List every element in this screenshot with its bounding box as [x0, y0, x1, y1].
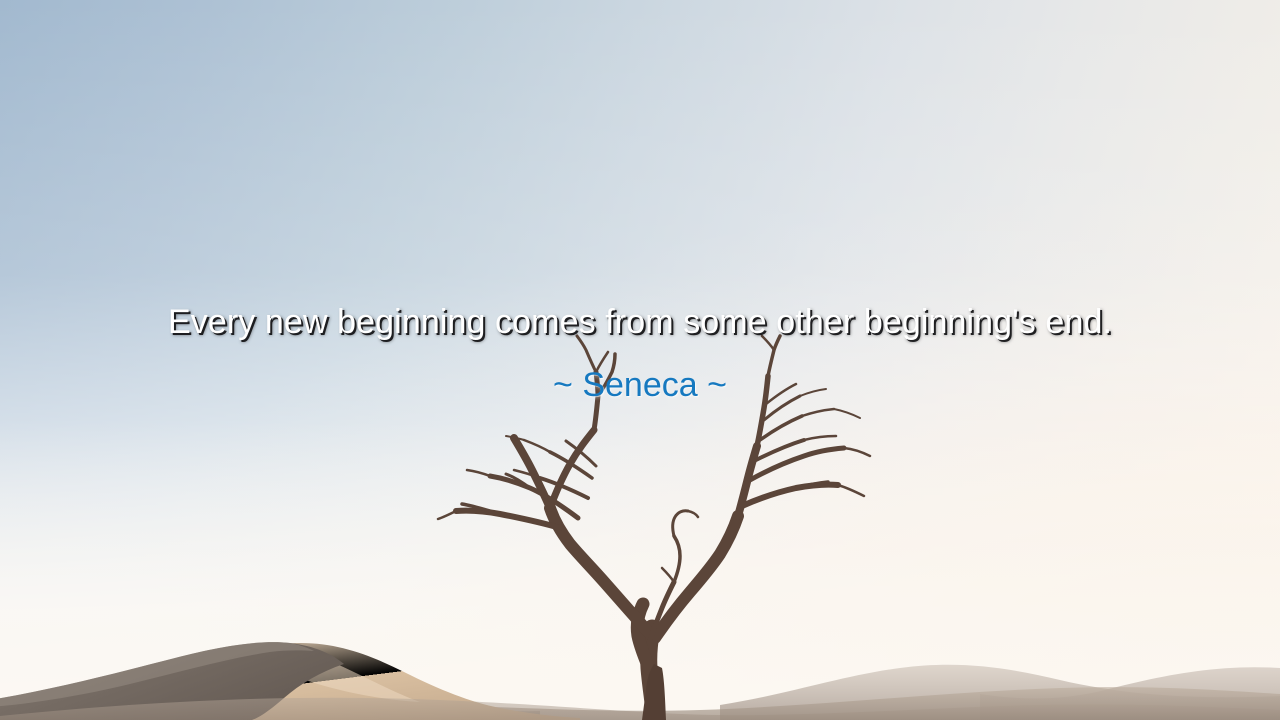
quote-block: Every new beginning comes from some othe…: [0, 300, 1280, 406]
quote-text: Every new beginning comes from some othe…: [0, 300, 1280, 344]
quote-image-canvas: Every new beginning comes from some othe…: [0, 0, 1280, 720]
quote-author: ~ Seneca ~: [0, 364, 1280, 406]
